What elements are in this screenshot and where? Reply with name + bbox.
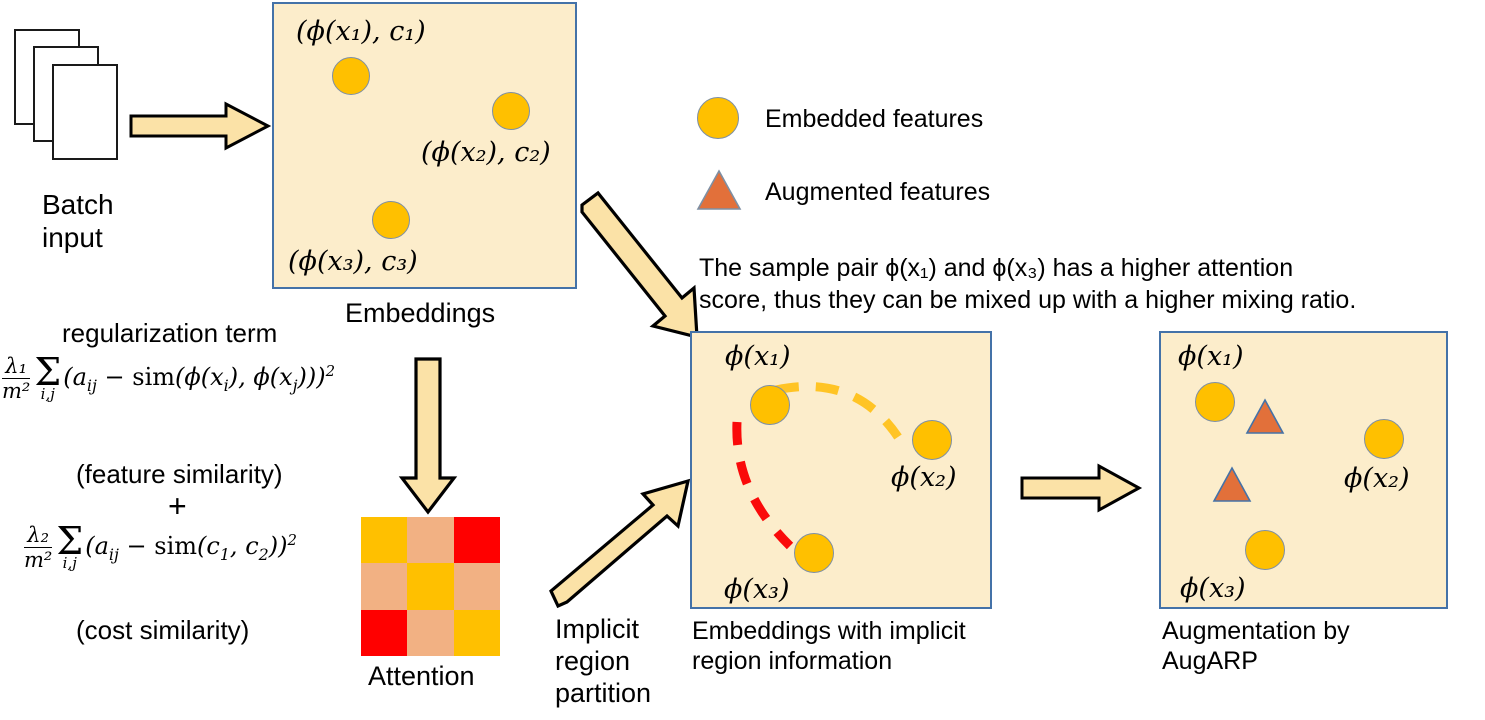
legend-label-augmented: Augmented features xyxy=(765,178,990,207)
region-point-2-marker xyxy=(912,420,952,460)
embeddings-point-1-marker xyxy=(332,57,370,95)
regularization-label-feature: (feature similarity) xyxy=(76,459,283,490)
legend-triangle-icon xyxy=(695,168,743,212)
embeddings-point-3-marker xyxy=(372,201,410,239)
regularization-plus: + xyxy=(168,488,187,526)
augmentation-triangle-2 xyxy=(1212,466,1252,504)
regularization-term-2: λ₂ m² Σ i,j (aij − sim(c1, c2))2 xyxy=(24,524,297,571)
attention-cell-0-1 xyxy=(407,517,453,563)
augmentation-point-2-marker xyxy=(1364,419,1404,459)
attention-cell-0-2 xyxy=(454,517,500,563)
description-line-2: score, thus they can be mixed up with a … xyxy=(699,286,1356,315)
embeddings-point-3-label: (ϕ(x₃), c₃) xyxy=(288,246,418,277)
term1-expression: (aij − sim(ϕ(xi), ϕ(xj)))2 xyxy=(63,362,335,395)
dashed-red-connection xyxy=(737,422,790,546)
attention-cell-1-0 xyxy=(361,563,407,609)
implicit-region-partition-label: Implicit region partition xyxy=(555,614,651,710)
augmentation-point-2-label: ϕ(x₂) xyxy=(1344,463,1410,494)
embeddings-caption: Embeddings xyxy=(345,298,495,330)
augmentation-point-1-label: ϕ(x₁) xyxy=(1178,341,1244,372)
augmentation-point-1-marker xyxy=(1195,382,1235,422)
term1-numerator: λ₁ xyxy=(5,355,27,377)
description-line-1: The sample pair ϕ(x₁) and ϕ(x₃) has a hi… xyxy=(699,254,1293,283)
legend-circle-icon xyxy=(697,97,739,139)
term1-denominator: m² xyxy=(2,380,30,402)
attention-cell-2-1 xyxy=(407,610,453,656)
dashed-gold-connection xyxy=(776,386,898,437)
region-point-1-marker xyxy=(750,385,790,425)
arrow-region-to-augmentation xyxy=(1019,462,1143,514)
attention-caption: Attention xyxy=(368,661,475,693)
term2-sigma-sub: i,j xyxy=(63,556,77,571)
term1-summation: Σ i,j xyxy=(34,355,61,402)
description-line-1-text: The sample pair ϕ(x₁) and ϕ(x₃) has a hi… xyxy=(699,254,1293,282)
attention-cell-1-1 xyxy=(407,563,453,609)
region-point-2-label: ϕ(x₂) xyxy=(891,462,957,493)
description-line-2-text: score, thus they can be mixed up with a … xyxy=(699,286,1356,314)
term1-fraction: λ₁ m² xyxy=(2,355,30,402)
arrow-batch-to-embeddings xyxy=(128,100,273,152)
region-point-3-label: ϕ(x₃) xyxy=(724,574,790,605)
term1-sigma-sub: i,j xyxy=(41,387,55,402)
region-panel-caption: Embeddings with implicit region informat… xyxy=(692,617,966,676)
attention-cell-0-0 xyxy=(361,517,407,563)
embeddings-point-2-marker xyxy=(492,92,530,130)
augmentation-triangle-1 xyxy=(1245,398,1285,436)
batch-input-label: Batch input xyxy=(42,188,114,254)
region-point-1-label: ϕ(x₁) xyxy=(725,341,791,372)
batch-sheet-front xyxy=(52,64,118,160)
attention-cell-2-2 xyxy=(454,610,500,656)
arrow-embeddings-to-attention xyxy=(392,356,464,516)
region-point-3-marker xyxy=(794,533,834,573)
legend-label-embedded: Embedded features xyxy=(765,105,983,134)
regularization-heading: regularization term xyxy=(62,318,277,349)
term2-denominator: m² xyxy=(24,549,52,571)
attention-cell-2-0 xyxy=(361,610,407,656)
augmentation-panel-caption: Augmentation by AugARP xyxy=(1162,617,1350,676)
augmentation-point-3-label: ϕ(x₃) xyxy=(1180,573,1246,604)
term2-fraction: λ₂ m² xyxy=(24,524,52,571)
regularization-label-cost: (cost similarity) xyxy=(76,615,249,646)
embeddings-point-2-label: (ϕ(x₂), c₂) xyxy=(421,137,551,168)
attention-cell-1-2 xyxy=(454,563,500,609)
regularization-term-1: λ₁ m² Σ i,j (aij − sim(ϕ(xi), ϕ(xj)))2 xyxy=(2,355,335,402)
term2-expression: (aij − sim(c1, c2))2 xyxy=(85,531,297,564)
term2-numerator: λ₂ xyxy=(27,524,49,546)
term2-summation: Σ i,j xyxy=(56,524,83,571)
arrow-attention-to-region xyxy=(548,458,696,610)
embeddings-point-1-label: (ϕ(x₁), c₁) xyxy=(296,16,426,47)
attention-matrix xyxy=(361,517,500,656)
augmentation-point-3-marker xyxy=(1245,530,1285,570)
